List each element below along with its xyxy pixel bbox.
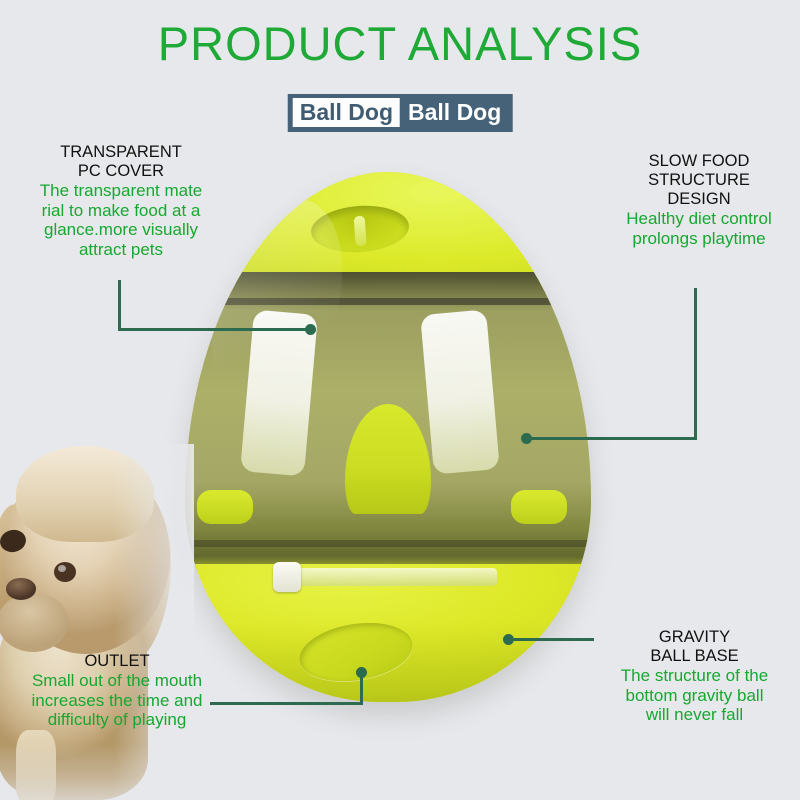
latch-slider: [273, 562, 301, 592]
cover-rim-top: [185, 298, 591, 305]
callout-body: Healthy diet control prolongs playtime: [604, 209, 794, 248]
badge-text-label: Ball Dog: [400, 98, 505, 127]
connector-line-slow-horizontal: [528, 437, 697, 440]
connector-dot-cover: [305, 324, 316, 335]
dog-eye-right: [54, 562, 76, 582]
connector-dot-gravity: [503, 634, 514, 645]
dome-top: [185, 172, 591, 284]
callout-heading: SLOW FOOD STRUCTURE DESIGN: [604, 152, 794, 209]
callout-outlet: OUTLET Small out of the mouth increases …: [12, 652, 222, 730]
dome-opening: [309, 203, 410, 256]
dog-eye-highlight: [58, 565, 66, 572]
dog-nose: [6, 578, 36, 600]
brand-badge: Ball Dog Ball Dog: [288, 94, 513, 132]
callout-body: The structure of the bottom gravity ball…: [592, 666, 797, 725]
connector-line-gravity-horizontal: [514, 638, 594, 641]
callout-body: The transparent mate rial to make food a…: [16, 181, 226, 259]
callout-heading: TRANSPARENT PC COVER: [16, 143, 226, 181]
connector-line-outlet-vertical: [360, 676, 363, 704]
inner-nub-left: [197, 490, 253, 524]
dome-rib: [353, 216, 366, 247]
dog-photo-fade-bottom: [0, 744, 190, 800]
shih-tzu-dog-photo: [0, 444, 190, 800]
slow-food-baffle-right: [420, 309, 500, 474]
inner-nub-right: [511, 490, 567, 524]
callout-heading: OUTLET: [12, 652, 222, 671]
infographic-canvas: PRODUCT ANALYSIS Ball Dog Ball Dog: [0, 0, 800, 800]
callout-slow-food-structure-design: SLOW FOOD STRUCTURE DESIGN Healthy diet …: [604, 152, 794, 248]
latch-track: [297, 568, 497, 586]
connector-dot-slow: [521, 433, 532, 444]
connector-line-cover-horizontal: [118, 328, 312, 331]
cover-rim-bottom: [185, 540, 591, 547]
connector-line-cover-vertical: [118, 280, 121, 330]
dog-muzzle: [0, 594, 68, 652]
connector-line-outlet-horizontal: [210, 702, 363, 705]
callout-gravity-ball-base: GRAVITY BALL BASE The structure of the b…: [592, 628, 797, 725]
page-title: PRODUCT ANALYSIS: [0, 16, 800, 71]
callout-body: Small out of the mouth increases the tim…: [12, 671, 222, 730]
badge-chip-label: Ball Dog: [293, 98, 400, 127]
callout-heading: GRAVITY BALL BASE: [592, 628, 797, 666]
connector-line-slow-vertical: [694, 288, 697, 440]
connector-dot-outlet: [356, 667, 367, 678]
callout-transparent-pc-cover: TRANSPARENT PC COVER The transparent mat…: [16, 143, 226, 259]
